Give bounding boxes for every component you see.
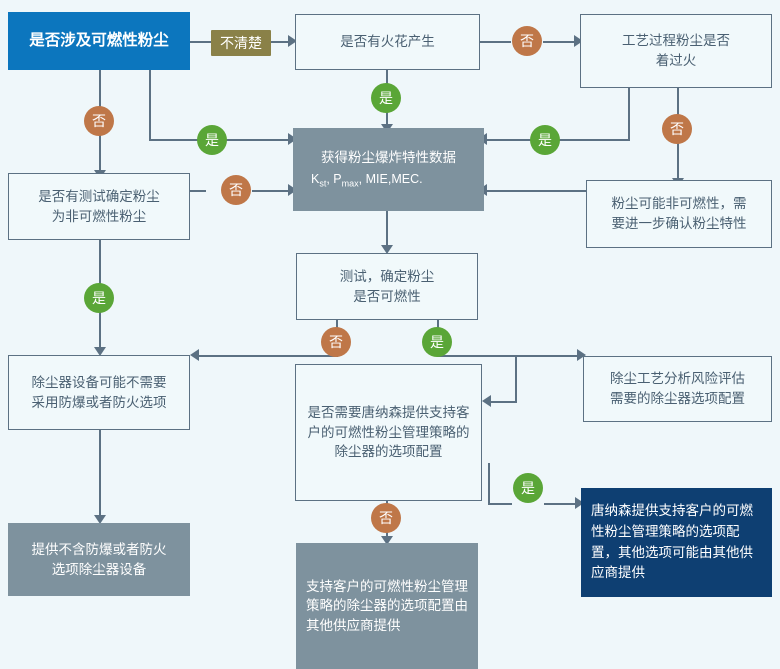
connector-process-yes-down [628, 88, 630, 140]
edge-label-no-test2-to-noprotect: 否 [321, 327, 351, 357]
edge-label-no-donaldson-to-other: 否 [371, 503, 401, 533]
node-label-line1: 除尘工艺分析风险评估 [594, 369, 761, 389]
node-combustible-dust-question[interactable]: 是否涉及可燃性粉尘 [8, 12, 190, 70]
edge-label-yes-blue-to-data: 是 [197, 125, 227, 155]
connector-donaldson-yes-down [488, 463, 490, 504]
edge-label-unclear: 不清楚 [211, 30, 271, 56]
edge-label-yes-spark-to-data: 是 [371, 83, 401, 113]
edge-label-no-blue-to-test: 否 [84, 106, 114, 136]
node-label-line1: 是否有测试确定粉尘 [19, 187, 179, 207]
arrowhead-test2no-to-noprotect [190, 349, 199, 361]
edge-label-yes-test2-to-risk: 是 [422, 327, 452, 357]
node-label-line2: 采用防爆或者防火选项 [19, 393, 179, 413]
node-donaldson-support-question[interactable]: 是否需要唐纳森提供支持客户的可燃性粉尘管理策略的除尘器的选项配置 [295, 364, 482, 501]
node-label-line2: 着过火 [591, 51, 761, 71]
node-explosion-data[interactable]: 获得粉尘爆炸特性数据 Kst, Pmax, MIE,MEC. [293, 128, 484, 211]
connector-test2-yes-right [437, 355, 581, 357]
connector-donaldson-yes-right [488, 503, 512, 505]
node-donaldson-provides[interactable]: 唐纳森提供支持客户的可燃性粉尘管理策略的选项配置，其他选项可能由其他供应商提供 [581, 488, 772, 597]
node-label: 支持客户的可燃性粉尘管理策略的除尘器的选项配置由其他供应商提供 [296, 577, 478, 636]
connector-risk-down [515, 356, 517, 402]
connector-test-to-no [190, 190, 206, 192]
node-label-line1: 除尘器设备可能不需要 [19, 373, 179, 393]
connector-test2-no-left [196, 355, 338, 357]
node-label: 是否需要唐纳森提供支持客户的可燃性粉尘管理策略的除尘器的选项配置 [296, 403, 481, 462]
connector-no-to-process [543, 41, 578, 43]
node-risk-assessment[interactable]: 除尘工艺分析风险评估 需要的除尘器选项配置 [583, 356, 772, 422]
node-label-line2: 为非可燃性粉尘 [19, 207, 179, 227]
node-label-sub: Kst, Pmax, MIE,MEC. [303, 170, 474, 191]
node-test-noncombustible-question[interactable]: 是否有测试确定粉尘 为非可燃性粉尘 [8, 173, 190, 240]
connector-yes-to-navy [544, 503, 579, 505]
edge-label-yes-process-to-data: 是 [530, 125, 560, 155]
edge-label-yes-donaldson-to-navy: 是 [513, 473, 543, 503]
node-label-line2: 选项除尘器设备 [18, 560, 180, 580]
node-test-combustibility[interactable]: 测试，确定粉尘 是否可燃性 [296, 253, 478, 320]
arrowhead-risk-to-donaldson [482, 395, 491, 407]
connector-maybe-to-data [484, 190, 587, 192]
node-label-line2: 需要的除尘器选项配置 [594, 389, 761, 409]
connector-spark-to-no [480, 41, 511, 43]
edge-label-no-test-to-data: 否 [221, 175, 251, 205]
connector-data-to-test2 [386, 211, 388, 249]
edge-label-no-process-to-maybe: 否 [662, 114, 692, 144]
connector-blue-down-yes [149, 70, 151, 140]
node-process-fire-question[interactable]: 工艺过程粉尘是否 着过火 [580, 14, 772, 88]
flowchart-canvas: 是否涉及可燃性粉尘 是否有火花产生 工艺过程粉尘是否 着过火 获得粉尘爆炸特性数… [0, 0, 780, 669]
node-other-supplier-provides[interactable]: 支持客户的可燃性粉尘管理策略的除尘器的选项配置由其他供应商提供 [296, 543, 478, 669]
node-provide-without-protection[interactable]: 提供不含防爆或者防火 选项除尘器设备 [8, 523, 190, 596]
node-label-line1: 测试，确定粉尘 [307, 267, 467, 287]
node-maybe-noncombustible[interactable]: 粉尘可能非可燃性，需 要进一步确认粉尘特性 [586, 180, 772, 248]
node-label-line2: 要进一步确认粉尘特性 [597, 214, 761, 234]
connector-blue-to-unclear [190, 41, 212, 43]
node-label: 是否有火花产生 [296, 32, 479, 52]
node-label: 是否涉及可燃性粉尘 [8, 30, 190, 52]
node-label-line1: 粉尘可能非可燃性，需 [597, 194, 761, 214]
connector-no-to-data [252, 190, 292, 192]
connector-noprotect-down [99, 430, 101, 518]
node-label-line1: 工艺过程粉尘是否 [591, 31, 761, 51]
edge-label-yes-test-to-noprotect: 是 [84, 283, 114, 313]
node-label: 唐纳森提供支持客户的可燃性粉尘管理策略的选项配置，其他选项可能由其他供应商提供 [581, 501, 772, 585]
edge-label-no-spark-to-process: 否 [512, 26, 542, 56]
node-label-line2: 是否可燃性 [307, 287, 467, 307]
node-label-line1: 提供不含防爆或者防火 [18, 540, 180, 560]
node-spark-question[interactable]: 是否有火花产生 [295, 14, 480, 70]
node-label-main: 获得粉尘爆炸特性数据 [303, 148, 474, 168]
node-no-protection-needed[interactable]: 除尘器设备可能不需要 采用防爆或者防火选项 [8, 355, 190, 430]
connector-risk-to-donaldson [488, 401, 517, 403]
